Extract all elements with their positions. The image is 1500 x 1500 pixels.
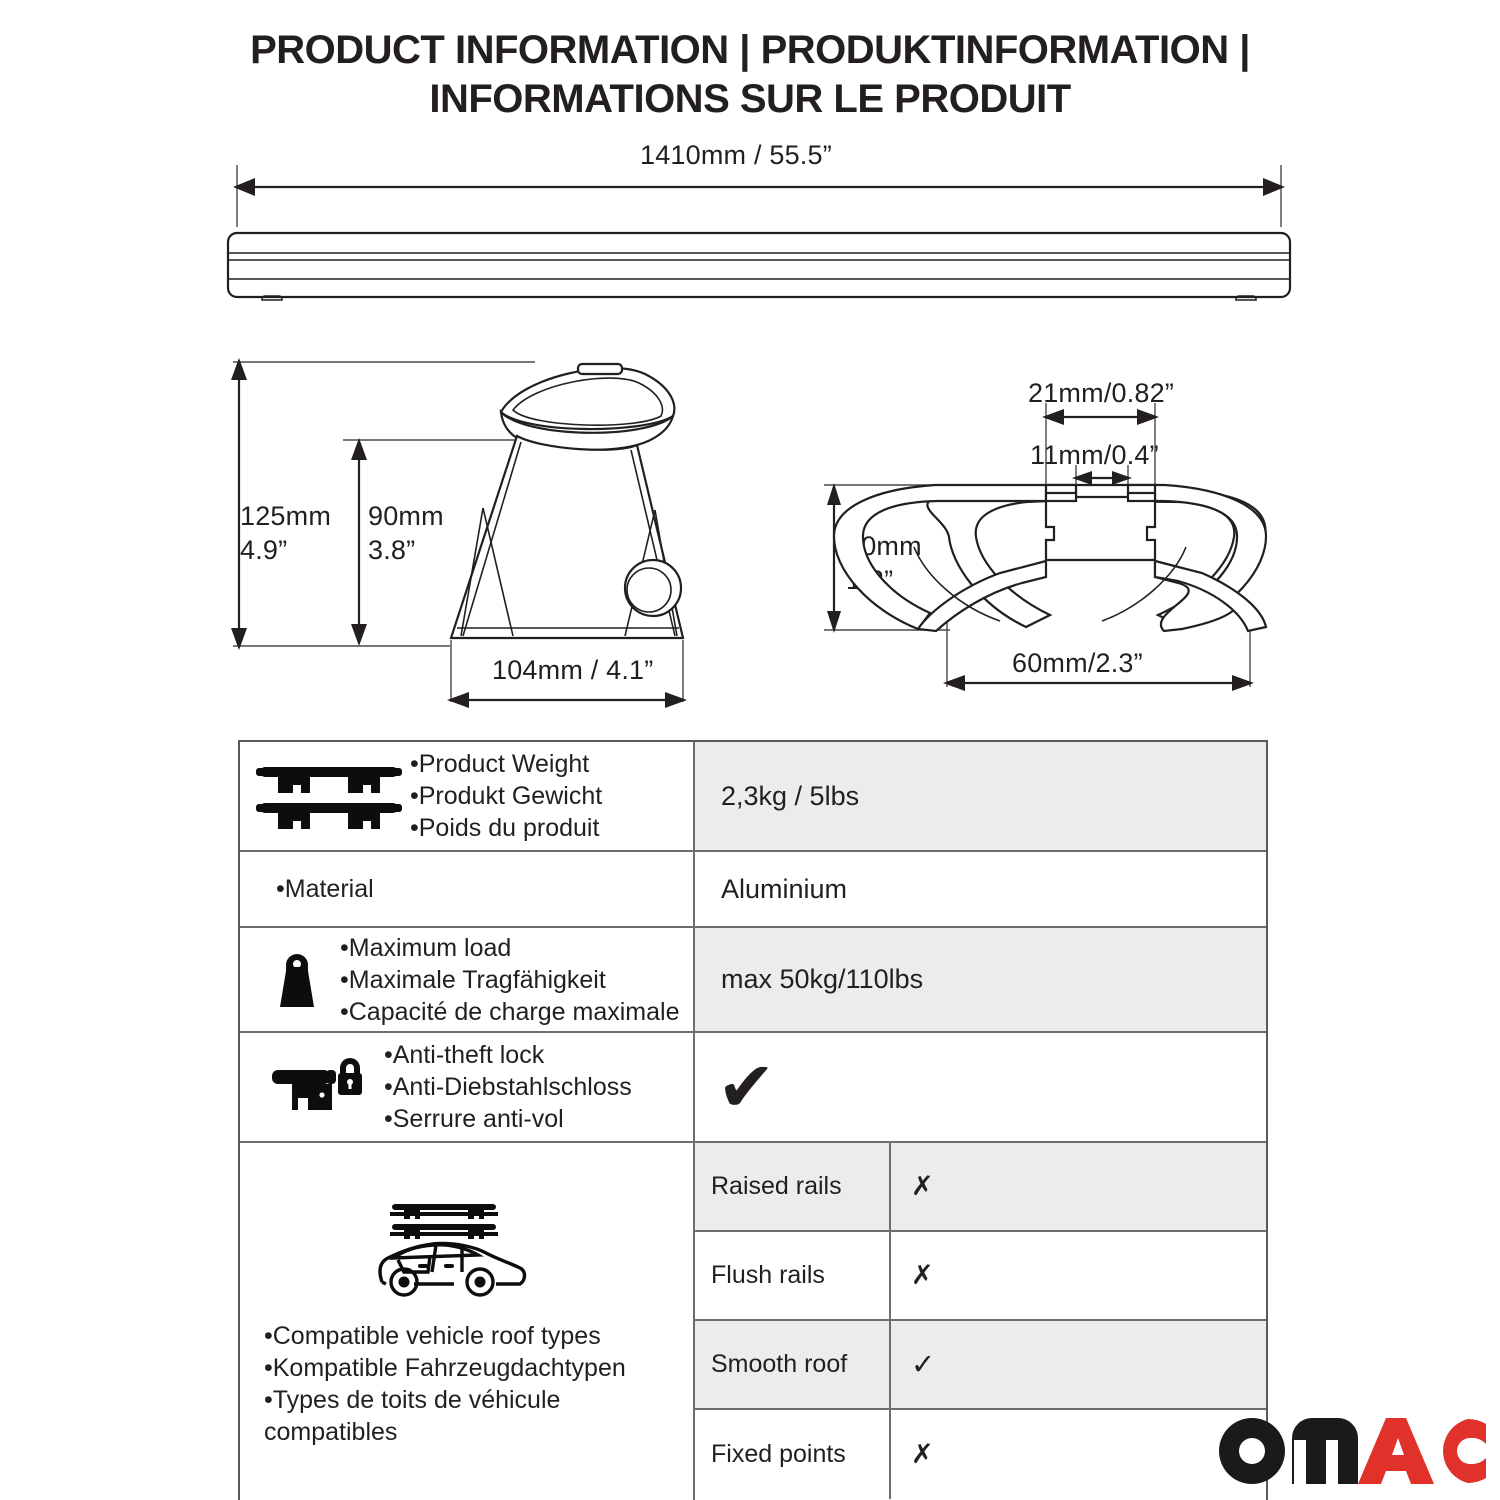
crossbars-icon bbox=[254, 759, 404, 833]
roof-type-value: ✗ bbox=[891, 1232, 1266, 1319]
check-icon: ✓ bbox=[911, 1347, 935, 1382]
anti-theft-checkmark: ✔ bbox=[717, 1052, 776, 1122]
row-labels: •Maximum load •Maximale Tragfähigkeit •C… bbox=[340, 932, 679, 1028]
roof-types-subtable: Raised rails ✗ Flush rails ✗ Smooth roof… bbox=[695, 1143, 1266, 1500]
cross-icon: ✗ bbox=[911, 1439, 934, 1470]
max-load-value: max 50kg/110lbs bbox=[721, 964, 923, 995]
roof-types-labels: •Compatible vehicle roof types •Kompatib… bbox=[264, 1320, 626, 1448]
label-en: •Compatible vehicle roof types bbox=[264, 1320, 626, 1352]
label-en: •Product Weight bbox=[410, 748, 602, 780]
row-value-cell: ✔ bbox=[695, 1033, 1266, 1141]
lock-icon bbox=[270, 1056, 366, 1118]
car-with-rack-icon bbox=[370, 1198, 530, 1302]
roof-type-value: ✓ bbox=[891, 1321, 1266, 1408]
roof-type-row: Fixed points ✗ bbox=[695, 1410, 1266, 1499]
label-en: •Anti-theft lock bbox=[384, 1039, 632, 1071]
cross-icon: ✗ bbox=[911, 1171, 934, 1202]
page-title: PRODUCT INFORMATION | PRODUKTINFORMATION… bbox=[0, 26, 1500, 124]
roof-type-row: Smooth roof ✓ bbox=[695, 1321, 1266, 1410]
row-label-cell: •Maximum load •Maximale Tragfähigkeit •C… bbox=[240, 928, 695, 1031]
table-row: •Product Weight •Produkt Gewicht •Poids … bbox=[240, 742, 1266, 852]
foot-side-view-diagram bbox=[225, 350, 705, 710]
label-de: •Anti-Diebstahlschloss bbox=[384, 1071, 632, 1103]
table-row: •Anti-theft lock •Anti-Diebstahlschloss … bbox=[240, 1033, 1266, 1143]
roof-type-name: Raised rails bbox=[695, 1143, 891, 1230]
label-en: •Material bbox=[276, 873, 374, 905]
logo-ac bbox=[1358, 1418, 1486, 1484]
cross-icon: ✗ bbox=[911, 1260, 934, 1291]
specs-table: •Product Weight •Produkt Gewicht •Poids … bbox=[238, 740, 1268, 1500]
roof-type-row: Flush rails ✗ bbox=[695, 1232, 1266, 1321]
row-labels: •Product Weight •Produkt Gewicht •Poids … bbox=[410, 748, 602, 844]
title-line-1: PRODUCT INFORMATION | PRODUKTINFORMATION… bbox=[250, 28, 1250, 72]
row-value-cell: Aluminium bbox=[695, 852, 1266, 926]
label-de: •Maximale Tragfähigkeit bbox=[340, 964, 679, 996]
product-weight-value: 2,3kg / 5lbs bbox=[721, 781, 859, 812]
roof-type-value: ✗ bbox=[891, 1143, 1266, 1230]
material-value: Aluminium bbox=[721, 874, 847, 905]
roof-type-name: Flush rails bbox=[695, 1232, 891, 1319]
roof-type-value: ✗ bbox=[891, 1410, 1266, 1499]
row-value-cell: max 50kg/110lbs bbox=[695, 928, 1266, 1031]
product-information-sheet: PRODUCT INFORMATION | PRODUKTINFORMATION… bbox=[0, 0, 1500, 1500]
table-row: •Maximum load •Maximale Tragfähigkeit •C… bbox=[240, 928, 1266, 1033]
row-labels: •Material bbox=[276, 873, 374, 905]
title-line-2: INFORMATIONS SUR LE PRODUIT bbox=[0, 75, 1500, 124]
roof-type-name: Fixed points bbox=[695, 1410, 891, 1499]
omac-logo bbox=[1218, 1418, 1486, 1484]
row-label-cell: •Anti-theft lock •Anti-Diebstahlschloss … bbox=[240, 1033, 695, 1141]
roof-types-label-cell: •Compatible vehicle roof types •Kompatib… bbox=[240, 1143, 695, 1500]
roof-type-row: Raised rails ✗ bbox=[695, 1143, 1266, 1232]
bar-cross-section-diagram bbox=[810, 365, 1290, 695]
row-label-cell: •Product Weight •Produkt Gewicht •Poids … bbox=[240, 742, 695, 850]
roof-type-name: Smooth roof bbox=[695, 1321, 891, 1408]
logo-om bbox=[1219, 1418, 1358, 1484]
row-label-cell: •Material bbox=[240, 852, 695, 926]
table-row: •Material Aluminium bbox=[240, 852, 1266, 928]
bar-top-view-diagram bbox=[225, 165, 1295, 310]
row-labels: •Anti-theft lock •Anti-Diebstahlschloss … bbox=[384, 1039, 632, 1135]
label-de: •Kompatible Fahrzeugdachtypen bbox=[264, 1352, 626, 1384]
label-en: •Maximum load bbox=[340, 932, 679, 964]
table-row-roof-types: •Compatible vehicle roof types •Kompatib… bbox=[240, 1143, 1266, 1500]
label-fr: •Poids du produit bbox=[410, 812, 602, 844]
weight-icon bbox=[268, 949, 326, 1011]
row-value-cell: 2,3kg / 5lbs bbox=[695, 742, 1266, 850]
label-fr: •Types de toits de véhicule bbox=[264, 1384, 626, 1416]
label-fr-cont: compatibles bbox=[264, 1416, 626, 1448]
label-fr: •Capacité de charge maximale bbox=[340, 996, 679, 1028]
label-de: •Produkt Gewicht bbox=[410, 780, 602, 812]
label-fr: •Serrure anti-vol bbox=[384, 1103, 632, 1135]
